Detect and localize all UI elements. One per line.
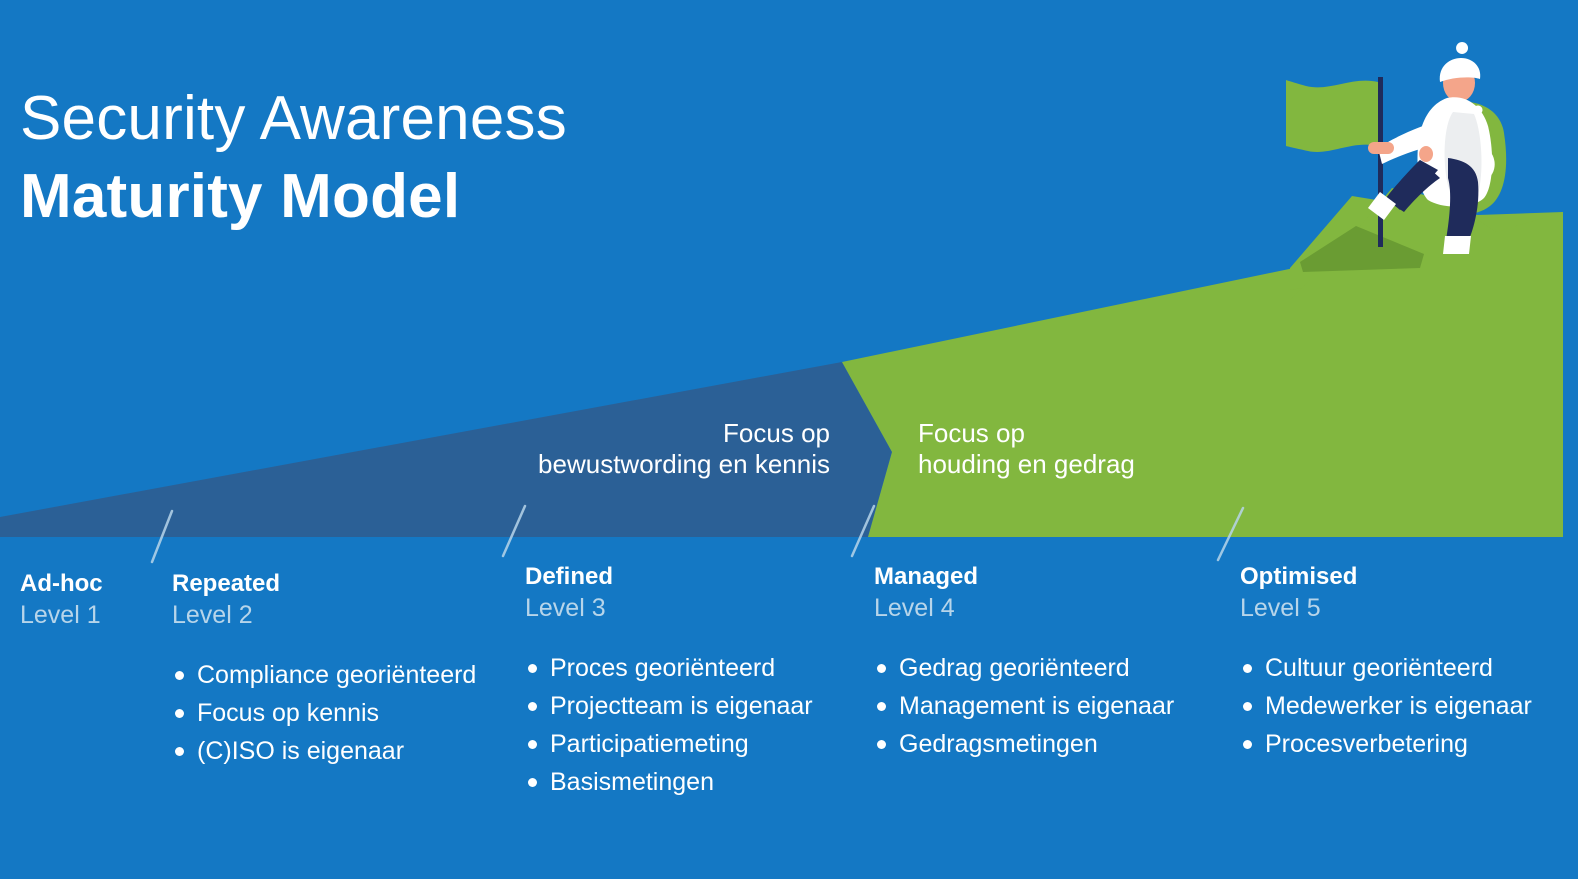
list-item-label: Proces georiënteerd bbox=[550, 654, 775, 682]
page-title: Security Awareness Maturity Model bbox=[20, 82, 567, 234]
focus-right-line-1: Focus op bbox=[918, 418, 1248, 449]
bullet-dot-icon bbox=[175, 709, 184, 718]
bullet-dot-icon bbox=[528, 778, 537, 787]
list-item-label: Focus op kennis bbox=[197, 699, 379, 727]
level-3-number: Level 3 bbox=[525, 593, 813, 623]
bullet-dot-icon bbox=[1243, 664, 1252, 673]
level-4-name: Managed bbox=[874, 563, 1174, 591]
list-item-label: Participatiemeting bbox=[550, 730, 749, 758]
hat-pom bbox=[1456, 42, 1468, 54]
list-item: (C)ISO is eigenaar bbox=[172, 732, 476, 770]
list-item: Proces georiënteerd bbox=[525, 649, 813, 687]
level-1-name: Ad-hoc bbox=[20, 570, 103, 598]
focus-label-awareness: Focus op bewustwording en kennis bbox=[515, 418, 830, 480]
list-item-label: Projectteam is eigenaar bbox=[550, 692, 813, 720]
list-item: Procesverbetering bbox=[1240, 725, 1532, 763]
focus-left-line-1: Focus op bbox=[515, 418, 830, 449]
list-item-label: Gedrag georiënteerd bbox=[899, 654, 1130, 682]
list-item-label: Cultuur georiënteerd bbox=[1265, 654, 1493, 682]
bullet-dot-icon bbox=[175, 747, 184, 756]
list-item: Basismetingen bbox=[525, 763, 813, 801]
level-2-bullet-list: Compliance georiënteerdFocus op kennis(C… bbox=[172, 656, 476, 770]
list-item-label: Medewerker is eigenaar bbox=[1265, 692, 1532, 720]
bullet-dot-icon bbox=[528, 702, 537, 711]
bullet-dot-icon bbox=[877, 664, 886, 673]
bullet-dot-icon bbox=[877, 702, 886, 711]
title-line-1: Security Awareness bbox=[20, 82, 567, 156]
level-column-2: Repeated Level 2 Compliance georiënteerd… bbox=[172, 570, 476, 770]
level-column-1: Ad-hoc Level 1 bbox=[20, 570, 103, 656]
list-item-label: Procesverbetering bbox=[1265, 730, 1468, 758]
list-item: Participatiemeting bbox=[525, 725, 813, 763]
flag-icon bbox=[1286, 80, 1378, 152]
list-item: Projectteam is eigenaar bbox=[525, 687, 813, 725]
list-item: Gedrag georiënteerd bbox=[874, 649, 1174, 687]
maturity-model-infographic: Security Awareness Maturity Model Focus … bbox=[0, 0, 1578, 879]
hand-on-pole bbox=[1368, 142, 1394, 154]
bullet-dot-icon bbox=[175, 671, 184, 680]
level-1-number: Level 1 bbox=[20, 600, 103, 630]
level-4-bullet-list: Gedrag georiënteerdManagement is eigenaa… bbox=[874, 649, 1174, 763]
level-4-number: Level 4 bbox=[874, 593, 1174, 623]
list-item: Focus op kennis bbox=[172, 694, 476, 732]
list-item: Gedragsmetingen bbox=[874, 725, 1174, 763]
list-item-label: Basismetingen bbox=[550, 768, 714, 796]
level-3-name: Defined bbox=[525, 563, 813, 591]
list-item: Medewerker is eigenaar bbox=[1240, 687, 1532, 725]
bullet-dot-icon bbox=[877, 740, 886, 749]
level-column-4: Managed Level 4 Gedrag georiënteerdManag… bbox=[874, 563, 1174, 763]
focus-left-line-2: bewustwording en kennis bbox=[515, 449, 830, 480]
bullet-dot-icon bbox=[528, 664, 537, 673]
level-5-bullet-list: Cultuur georiënteerdMedewerker is eigena… bbox=[1240, 649, 1532, 763]
bullet-dot-icon bbox=[528, 740, 537, 749]
bullet-dot-icon bbox=[1243, 702, 1252, 711]
list-item: Compliance georiënteerd bbox=[172, 656, 476, 694]
hand-right bbox=[1419, 146, 1433, 162]
focus-label-behaviour: Focus op houding en gedrag bbox=[918, 418, 1248, 480]
level-column-5: Optimised Level 5 Cultuur georiënteerdMe… bbox=[1240, 563, 1532, 763]
level-5-number: Level 5 bbox=[1240, 593, 1532, 623]
bullet-dot-icon bbox=[1243, 740, 1252, 749]
list-item-label: Management is eigenaar bbox=[899, 692, 1174, 720]
focus-right-line-2: houding en gedrag bbox=[918, 449, 1248, 480]
level-3-bullet-list: Proces georiënteerdProjectteam is eigena… bbox=[525, 649, 813, 801]
level-2-name: Repeated bbox=[172, 570, 476, 598]
level-column-3: Defined Level 3 Proces georiënteerdProje… bbox=[525, 563, 813, 801]
list-item: Cultuur georiënteerd bbox=[1240, 649, 1532, 687]
title-line-2: Maturity Model bbox=[20, 160, 567, 234]
list-item-label: Gedragsmetingen bbox=[899, 730, 1098, 758]
list-item-label: Compliance georiënteerd bbox=[197, 661, 476, 689]
level-5-name: Optimised bbox=[1240, 563, 1532, 591]
list-item: Management is eigenaar bbox=[874, 687, 1174, 725]
list-item-label: (C)ISO is eigenaar bbox=[197, 737, 404, 765]
shoe-front bbox=[1443, 236, 1471, 254]
level-2-number: Level 2 bbox=[172, 600, 476, 630]
